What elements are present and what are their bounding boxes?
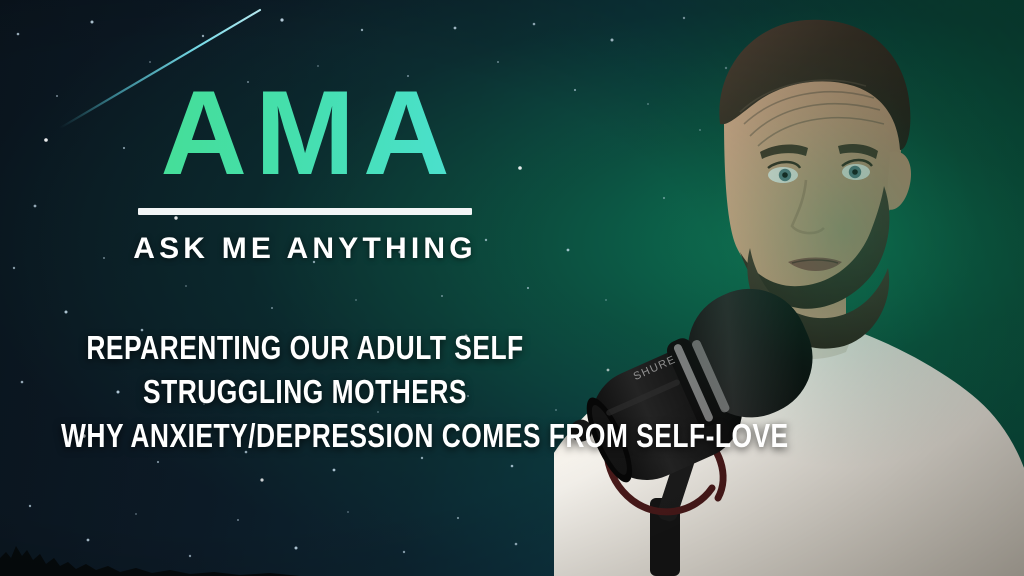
left-text-panel: AMA ASK ME ANYTHING REPARENTING OUR ADUL… bbox=[0, 0, 610, 576]
topic-line-1: REPARENTING OUR ADULT SELF bbox=[61, 326, 549, 370]
host-portrait-photo: SHURE bbox=[554, 0, 1024, 576]
title-block: AMA ASK ME ANYTHING bbox=[0, 78, 610, 266]
topic-line-3: WHY ANXIETY/DEPRESSION COMES FROM SELF-L… bbox=[61, 414, 549, 458]
topic-list: REPARENTING OUR ADULT SELF STRUGGLING MO… bbox=[0, 326, 610, 458]
thumbnail-canvas: SHURE AMA ASK ME ANYTHING REPARENTING OU… bbox=[0, 0, 1024, 576]
topic-line-2: STRUGGLING MOTHERS bbox=[61, 370, 549, 414]
title-divider-rule bbox=[138, 208, 472, 215]
ama-tagline: ASK ME ANYTHING bbox=[0, 232, 610, 266]
ama-wordmark: AMA bbox=[0, 78, 610, 188]
